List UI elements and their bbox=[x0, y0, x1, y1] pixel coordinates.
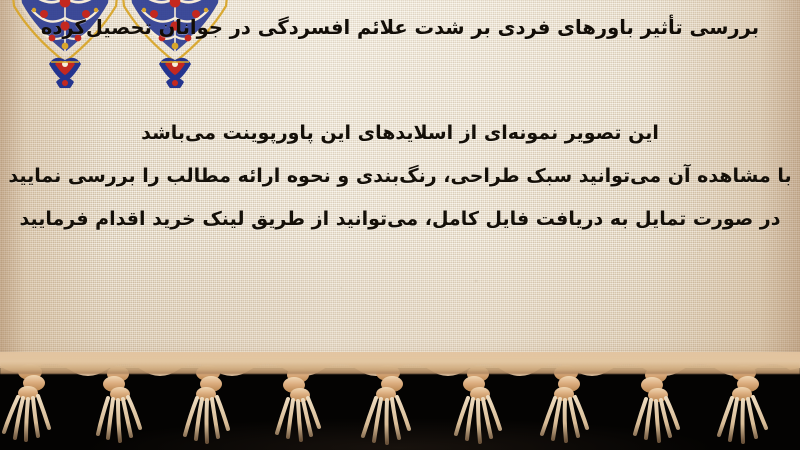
body-line-2: با مشاهده آن می‌توانید سبک طراحی، رنگ‌بن… bbox=[0, 155, 800, 198]
carpet-fringe bbox=[0, 352, 800, 450]
carpet-selvedge bbox=[0, 352, 800, 374]
body-line-3: در صورت تمایل به دریافت فایل کامل، می‌تو… bbox=[0, 198, 800, 241]
slide-body: این تصویر نمونه‌ای از اسلایدهای این پاور… bbox=[0, 112, 800, 241]
slide-canvas: بررسی تأثیر باورهای فردی بر شدت علائم اف… bbox=[0, 0, 800, 450]
slide-title: بررسی تأثیر باورهای فردی بر شدت علائم اف… bbox=[0, 14, 800, 41]
body-line-1: این تصویر نمونه‌ای از اسلایدهای این پاور… bbox=[0, 112, 800, 155]
